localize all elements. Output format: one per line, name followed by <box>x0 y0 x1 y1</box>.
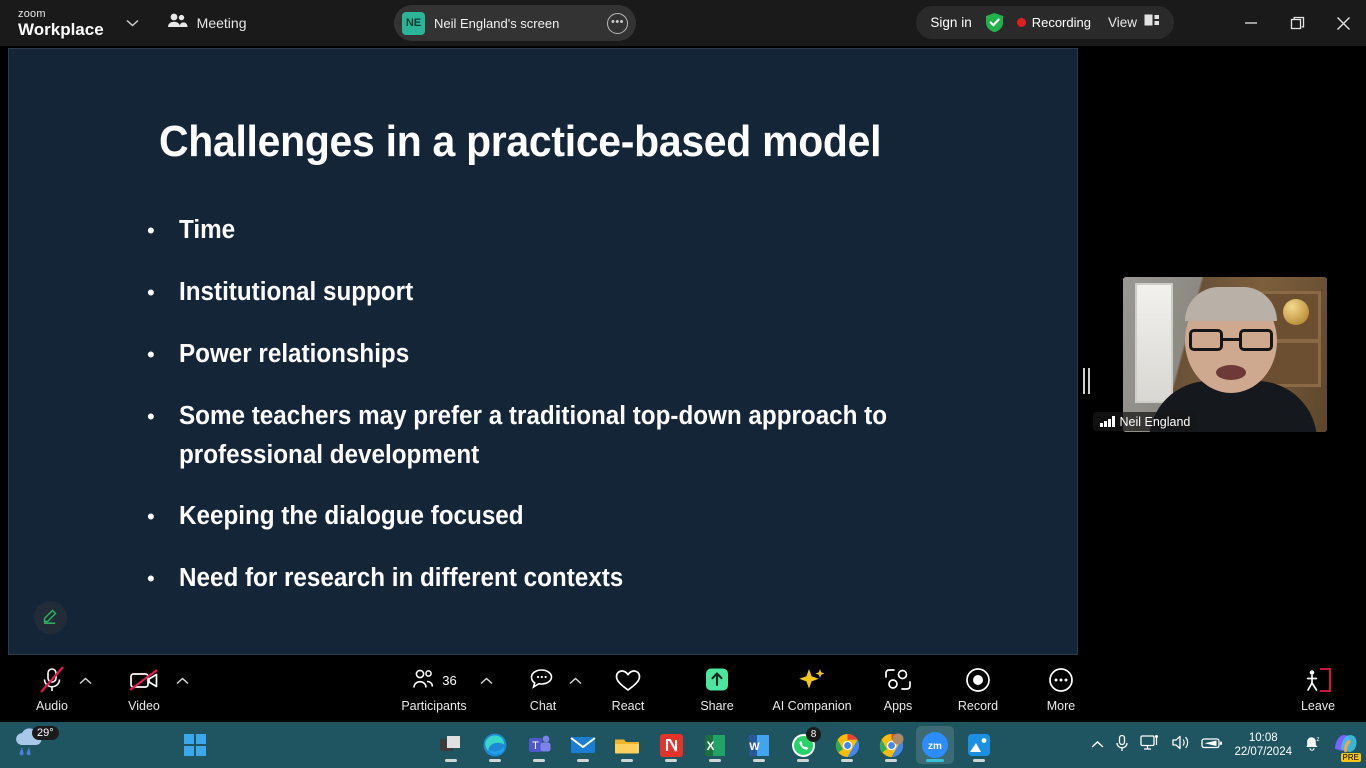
red-app-icon[interactable] <box>652 726 690 764</box>
chat-button[interactable]: Chat <box>505 664 581 713</box>
word-icon[interactable]: W <box>740 726 778 764</box>
chrome-icon[interactable] <box>828 726 866 764</box>
shared-screen-stage[interactable]: Challenges in a practice-based model • T… <box>8 48 1078 655</box>
zoom-icon[interactable]: zm <box>916 726 954 764</box>
file-explorer-icon[interactable] <box>608 726 646 764</box>
apps-button[interactable]: Apps <box>860 664 936 713</box>
weather-temperature: 29° <box>32 726 59 740</box>
mail-icon[interactable] <box>564 726 602 764</box>
task-view-icon[interactable] <box>432 726 470 764</box>
record-icon <box>964 664 992 696</box>
list-item: • Institutional support <box>141 273 971 313</box>
more-button[interactable]: More <box>1023 664 1099 713</box>
signal-bars-icon <box>1100 416 1115 427</box>
pencil-annotate-icon <box>41 606 60 630</box>
list-item: • Need for research in different context… <box>141 559 971 599</box>
whatsapp-badge: 8 <box>806 727 821 742</box>
svg-text:zm: zm <box>928 741 942 752</box>
more-dots-icon <box>1047 664 1075 696</box>
apps-label: Apps <box>884 699 913 713</box>
participants-options-chevron-icon[interactable] <box>480 676 493 688</box>
participants-label: Participants <box>401 699 466 713</box>
meeting-tab[interactable]: Meeting <box>167 13 247 33</box>
chrome-profile-icon[interactable] <box>872 726 910 764</box>
list-item: • Some teachers may prefer a traditional… <box>141 397 971 475</box>
chat-options-chevron-icon[interactable] <box>569 676 582 688</box>
slide-bullet-list: • Time • Institutional support • Power r… <box>141 211 971 621</box>
green-shield-check-icon[interactable] <box>985 12 1004 33</box>
people-icon <box>167 13 188 33</box>
layout-icon <box>1144 13 1160 32</box>
leave-button[interactable]: Leave <box>1280 664 1356 713</box>
bullet-dot-icon: • <box>141 559 179 599</box>
apps-icon <box>883 664 913 696</box>
react-label: React <box>612 699 645 713</box>
photos-icon[interactable] <box>960 726 998 764</box>
speaker-icon[interactable] <box>1171 734 1190 756</box>
share-screen-icon <box>702 664 732 696</box>
ai-companion-button[interactable]: AI Companion <box>760 664 864 713</box>
svg-text:T: T <box>532 740 539 752</box>
clock-date: 22/07/2024 <box>1234 745 1292 759</box>
recording-indicator[interactable]: Recording <box>1017 15 1091 30</box>
video-person-mouth <box>1216 365 1246 380</box>
bullet-text: Need for research in different contexts <box>179 559 623 599</box>
window-controls <box>1228 0 1366 46</box>
shared-screen-tab[interactable]: NE Neil England's screen ••• <box>394 5 636 41</box>
participants-count: 36 <box>442 673 456 688</box>
heart-icon <box>614 664 642 696</box>
share-button[interactable]: Share <box>679 664 755 713</box>
video-button[interactable]: Video <box>106 664 182 713</box>
microphone-icon[interactable] <box>1115 734 1129 757</box>
bullet-text: Power relationships <box>179 335 409 375</box>
logo-line-2: Workplace <box>18 21 104 38</box>
display-cast-icon[interactable] <box>1140 734 1160 756</box>
bullet-dot-icon: • <box>141 497 179 537</box>
taskbar-app-icons: T <box>176 726 998 764</box>
react-button[interactable]: React <box>590 664 666 713</box>
chat-label: Chat <box>530 699 556 713</box>
share-label: Share <box>700 699 733 713</box>
bell-quiet-icon[interactable]: z <box>1303 734 1321 757</box>
meeting-label: Meeting <box>197 15 247 31</box>
leave-label: Leave <box>1301 699 1335 713</box>
view-button[interactable]: View <box>1108 13 1160 32</box>
sparkle-icon <box>797 664 827 696</box>
chevron-up-icon[interactable] <box>1091 736 1104 754</box>
participants-icon: 36 <box>411 664 456 696</box>
camera-muted-icon <box>128 664 160 696</box>
slide-title: Challenges in a practice-based model <box>159 117 881 167</box>
copilot-icon[interactable]: PRE <box>1332 731 1358 760</box>
audio-label: Audio <box>36 699 68 713</box>
taskbar-clock[interactable]: 10:08 22/07/2024 <box>1234 731 1292 759</box>
participant-video-tile[interactable] <box>1123 277 1327 432</box>
chat-bubble-icon <box>528 664 558 696</box>
bullet-dot-icon: • <box>141 397 179 475</box>
shared-screen-title: Neil England's screen <box>434 16 607 31</box>
bullet-text: Institutional support <box>179 273 413 313</box>
excel-icon[interactable]: X <box>696 726 734 764</box>
more-label: More <box>1047 699 1075 713</box>
sign-in-button[interactable]: Sign in <box>930 15 971 30</box>
titlebar-right-group: Sign in Recording View <box>916 6 1174 39</box>
meeting-toolbar: Audio Video <box>0 658 1366 722</box>
logo-line-1: zoom <box>18 9 104 20</box>
bullet-dot-icon: • <box>141 211 179 251</box>
edge-icon[interactable] <box>476 726 514 764</box>
audio-options-chevron-icon[interactable] <box>79 676 92 688</box>
video-options-chevron-icon[interactable] <box>176 676 189 688</box>
restore-icon[interactable] <box>1274 0 1320 46</box>
video-ornament-shape <box>1283 299 1309 325</box>
video-window-shape <box>1135 283 1173 403</box>
audio-button[interactable]: Audio <box>14 664 90 713</box>
system-tray: 10:08 22/07/2024 z PRE <box>1091 722 1358 768</box>
close-icon[interactable] <box>1320 0 1366 46</box>
list-item: • Time <box>141 211 971 251</box>
svg-text:W: W <box>749 741 760 753</box>
leave-door-icon <box>1303 664 1333 696</box>
participant-name-badge: Neil England <box>1093 412 1197 431</box>
more-dots-icon[interactable]: ••• <box>607 13 628 34</box>
chevron-down-icon[interactable] <box>126 16 139 30</box>
windows-start-icon[interactable] <box>176 726 214 764</box>
weather-widget[interactable]: 29° <box>10 728 50 765</box>
zoom-workplace-logo: zoom Workplace <box>18 9 104 38</box>
recording-dot-icon <box>1017 18 1026 27</box>
avatar: NE <box>402 12 425 35</box>
record-button[interactable]: Record <box>940 664 1016 713</box>
clock-time: 10:08 <box>1234 731 1292 745</box>
video-label: Video <box>128 699 160 713</box>
whatsapp-icon[interactable]: 8 <box>784 726 822 764</box>
ai-companion-label: AI Companion <box>772 699 851 713</box>
battery-icon[interactable] <box>1201 736 1223 755</box>
list-item: • Power relationships <box>141 335 971 375</box>
bullet-text: Time <box>179 211 235 251</box>
annotate-button[interactable] <box>34 601 67 634</box>
bullet-text: Some teachers may prefer a traditional t… <box>179 397 930 475</box>
title-bar: zoom Workplace Meeting NE Neil England's… <box>0 0 1366 46</box>
bullet-text: Keeping the dialogue focused <box>179 497 524 537</box>
bullet-dot-icon: • <box>141 335 179 375</box>
view-label: View <box>1108 15 1137 30</box>
participant-name: Neil England <box>1120 415 1191 429</box>
list-item: • Keeping the dialogue focused <box>141 497 971 537</box>
participants-button[interactable]: 36 Participants <box>396 664 472 713</box>
teams-icon[interactable]: T <box>520 726 558 764</box>
recording-label: Recording <box>1032 15 1091 30</box>
svg-text:X: X <box>706 739 714 753</box>
bullet-dot-icon: • <box>141 273 179 313</box>
windows-taskbar: 29° <box>0 722 1366 768</box>
record-label: Record <box>958 699 998 713</box>
zoom-meeting-window: zoom Workplace Meeting NE Neil England's… <box>0 0 1366 768</box>
minimize-icon[interactable] <box>1228 0 1274 46</box>
panel-drag-handle[interactable] <box>1083 368 1090 394</box>
copilot-badge: PRE <box>1341 753 1361 762</box>
microphone-muted-icon <box>38 664 66 696</box>
video-person-glasses <box>1189 329 1273 351</box>
svg-text:z: z <box>1317 737 1320 743</box>
